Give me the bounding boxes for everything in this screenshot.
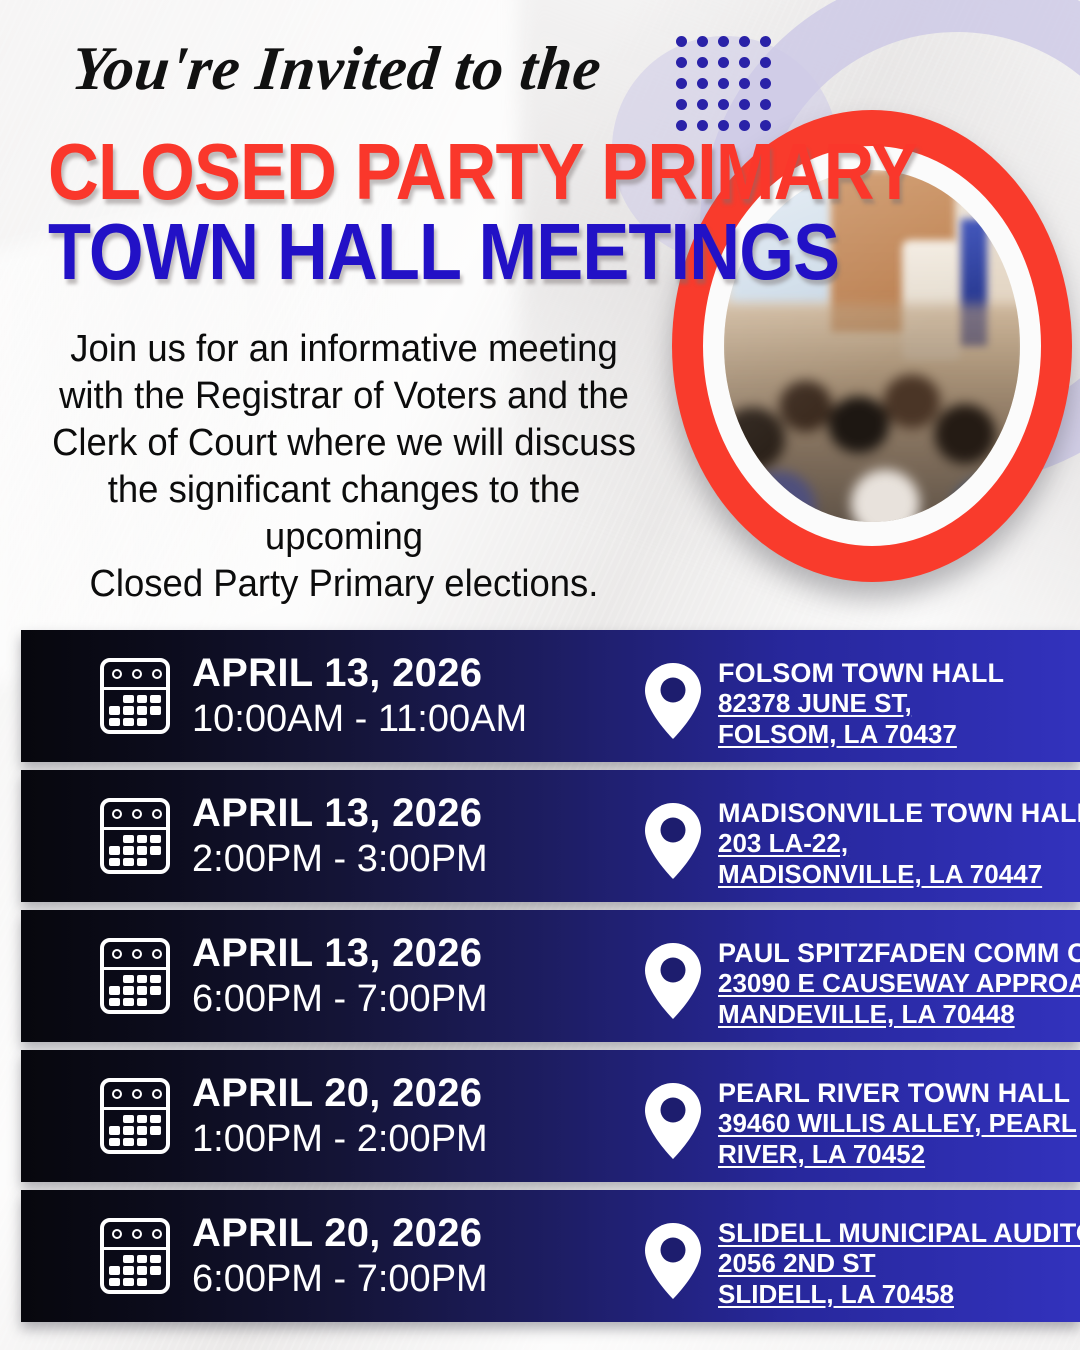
description-paragraph: Join us for an informative meetingwith t… <box>37 326 651 608</box>
dot <box>697 99 708 110</box>
description-line: the significant changes to the <box>37 467 651 514</box>
description-line: with the Registrar of Voters and the <box>37 373 651 420</box>
event-row: APRIL 20, 20266:00PM - 7:00PMSLIDELL MUN… <box>21 1190 1080 1322</box>
event-datetime: APRIL 13, 20262:00PM - 3:00PM <box>192 791 488 881</box>
event-datetime: APRIL 20, 20261:00PM - 2:00PM <box>192 1071 488 1161</box>
event-location: MADISONVILLE TOWN HALL203 LA-22,MADISONV… <box>718 798 1080 890</box>
event-address-line[interactable]: 23090 E CAUSEWAY APPROACH, <box>718 968 1080 999</box>
dot <box>760 36 771 47</box>
calendar-icon <box>100 938 170 1014</box>
dot <box>718 57 729 68</box>
event-address-line[interactable]: RIVER, LA 70452 <box>718 1139 1080 1170</box>
event-date: APRIL 20, 2026 <box>192 1071 488 1116</box>
event-location: PAUL SPITZFADEN COMM CENTER23090 E CAUSE… <box>718 938 1080 1030</box>
dot <box>739 99 750 110</box>
event-row: APRIL 13, 20266:00PM - 7:00PMPAUL SPITZF… <box>21 910 1080 1042</box>
event-venue: SLIDELL MUNICIPAL AUDITORIUM <box>718 1218 1080 1248</box>
event-time: 6:00PM - 7:00PM <box>192 978 488 1021</box>
event-address-line[interactable]: 39460 WILLIS ALLEY, PEARL <box>718 1108 1080 1139</box>
event-venue: PAUL SPITZFADEN COMM CENTER <box>718 938 1080 968</box>
event-time: 2:00PM - 3:00PM <box>192 838 488 881</box>
dot <box>718 99 729 110</box>
dot <box>697 57 708 68</box>
dot <box>676 36 687 47</box>
dot <box>739 57 750 68</box>
event-time: 6:00PM - 7:00PM <box>192 1258 488 1301</box>
event-datetime: APRIL 13, 202610:00AM - 11:00AM <box>192 651 527 741</box>
event-time: 1:00PM - 2:00PM <box>192 1118 488 1161</box>
event-address-line[interactable]: 203 LA-22, <box>718 828 1080 859</box>
dot <box>739 36 750 47</box>
event-venue: PEARL RIVER TOWN HALL <box>718 1078 1080 1108</box>
dot <box>676 78 687 89</box>
event-row: APRIL 13, 20262:00PM - 3:00PMMADISONVILL… <box>21 770 1080 902</box>
map-pin-icon <box>642 1082 704 1160</box>
calendar-icon <box>100 1218 170 1294</box>
event-address-line[interactable]: SLIDELL, LA 70458 <box>718 1279 1080 1310</box>
dot <box>676 99 687 110</box>
event-address-line[interactable]: 2056 2ND ST <box>718 1248 1080 1279</box>
event-datetime: APRIL 20, 20266:00PM - 7:00PM <box>192 1211 488 1301</box>
event-address-line[interactable]: 82378 JUNE ST, <box>718 688 1080 719</box>
event-venue: MADISONVILLE TOWN HALL <box>718 798 1080 828</box>
description-line: upcoming <box>37 514 651 561</box>
event-venue: FOLSOM TOWN HALL <box>718 658 1080 688</box>
event-time: 10:00AM - 11:00AM <box>192 698 527 741</box>
event-list: APRIL 13, 202610:00AM - 11:00AMFOLSOM TO… <box>21 630 1080 1330</box>
dot <box>739 78 750 89</box>
event-location: FOLSOM TOWN HALL82378 JUNE ST,FOLSOM, LA… <box>718 658 1080 750</box>
event-location: PEARL RIVER TOWN HALL39460 WILLIS ALLEY,… <box>718 1078 1080 1170</box>
event-datetime: APRIL 13, 20266:00PM - 7:00PM <box>192 931 488 1021</box>
event-date: APRIL 13, 2026 <box>192 651 527 696</box>
map-pin-icon <box>642 942 704 1020</box>
event-date: APRIL 20, 2026 <box>192 1211 488 1256</box>
dot <box>760 57 771 68</box>
event-row: APRIL 13, 202610:00AM - 11:00AMFOLSOM TO… <box>21 630 1080 762</box>
event-address-line[interactable]: MANDEVILLE, LA 70448 <box>718 999 1080 1030</box>
description-line: Closed Party Primary elections. <box>37 561 651 608</box>
map-pin-icon <box>642 1222 704 1300</box>
dot <box>718 36 729 47</box>
calendar-icon <box>100 658 170 734</box>
dot <box>760 99 771 110</box>
event-address-line[interactable]: FOLSOM, LA 70437 <box>718 719 1080 750</box>
map-pin-icon <box>642 802 704 880</box>
event-location: SLIDELL MUNICIPAL AUDITORIUM2056 2ND STS… <box>718 1218 1080 1310</box>
description-line: Join us for an informative meeting <box>37 326 651 373</box>
dot <box>697 36 708 47</box>
dot <box>718 78 729 89</box>
calendar-icon <box>100 798 170 874</box>
invitation-script-line: You're Invited to the <box>68 34 675 105</box>
event-address-line[interactable]: MADISONVILLE, LA 70447 <box>718 859 1080 890</box>
event-date: APRIL 13, 2026 <box>192 931 488 976</box>
event-row: APRIL 20, 20261:00PM - 2:00PMPEARL RIVER… <box>21 1050 1080 1182</box>
page-title-line-1: CLOSED PARTY PRIMARY <box>48 126 917 218</box>
calendar-icon <box>100 1078 170 1154</box>
description-line: Clerk of Court where we will discuss <box>37 420 651 467</box>
page-title-line-2: TOWN HALL MEETINGS <box>48 206 839 298</box>
event-date: APRIL 13, 2026 <box>192 791 488 836</box>
dot <box>760 78 771 89</box>
dot <box>676 57 687 68</box>
map-pin-icon <box>642 662 704 740</box>
dot <box>697 78 708 89</box>
